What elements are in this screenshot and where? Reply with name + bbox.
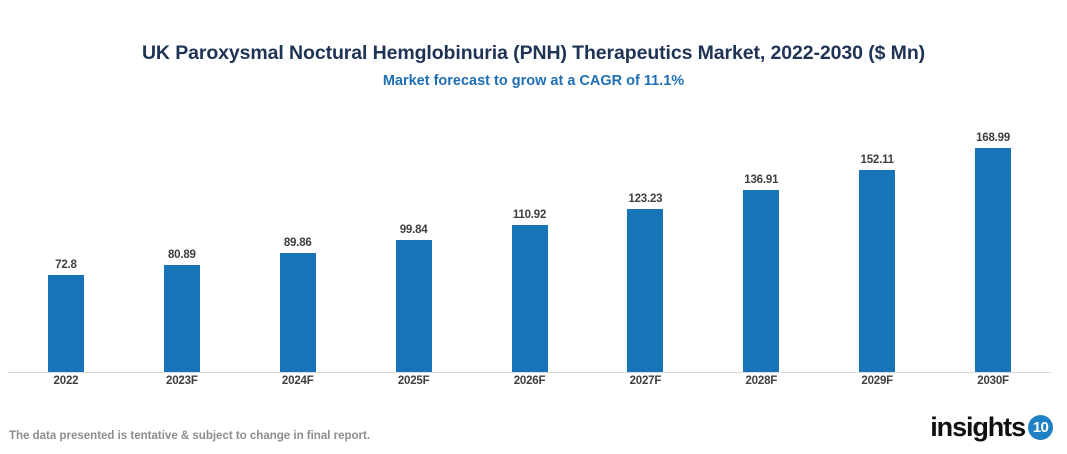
- bar-group: 136.91: [703, 120, 819, 372]
- bar-group: 80.89: [124, 120, 240, 372]
- x-tick-label: 2022: [8, 375, 124, 393]
- logo-badge-icon: 10: [1028, 415, 1053, 440]
- bar-group: 99.84: [356, 120, 472, 372]
- disclaimer-text: The data presented is tentative & subjec…: [9, 430, 370, 442]
- x-tick-label: 2030F: [935, 375, 1051, 393]
- x-axis-tick-labels: 20222023F2024F2025F2026F2027F2028F2029F2…: [8, 375, 1051, 393]
- title-block: UK Paroxysmal Noctural Hemglobinuria (PN…: [0, 40, 1067, 91]
- bar-group: 123.23: [587, 120, 703, 372]
- page-title: UK Paroxysmal Noctural Hemglobinuria (PN…: [0, 40, 1067, 66]
- bar-value-label: 136.91: [744, 174, 778, 186]
- bar-value-label: 168.99: [976, 132, 1010, 144]
- logo-wordmark: insights: [930, 414, 1025, 441]
- bar[interactable]: [975, 148, 1011, 372]
- chart-subtitle: Market forecast to grow at a CAGR of 11.…: [0, 71, 1067, 91]
- bar[interactable]: [512, 225, 548, 372]
- bar-value-label: 152.11: [861, 154, 894, 166]
- x-tick-label: 2026F: [472, 375, 588, 393]
- insights10-logo: insights 10: [930, 412, 1053, 442]
- bar[interactable]: [164, 265, 200, 372]
- bar-group: 152.11: [819, 120, 935, 372]
- bar[interactable]: [48, 275, 84, 372]
- x-axis-baseline: [8, 372, 1051, 373]
- bar-series: 72.880.8989.8699.84110.92123.23136.91152…: [8, 120, 1051, 372]
- bar[interactable]: [396, 240, 432, 372]
- x-tick-label: 2023F: [124, 375, 240, 393]
- bar-value-label: 80.89: [168, 249, 196, 261]
- x-tick-label: 2025F: [356, 375, 472, 393]
- chart-figure: UK Paroxysmal Noctural Hemglobinuria (PN…: [0, 0, 1067, 454]
- bar-group: 89.86: [240, 120, 356, 372]
- bar-group: 110.92: [472, 120, 588, 372]
- bar[interactable]: [859, 170, 895, 372]
- x-tick-label: 2028F: [703, 375, 819, 393]
- bar-value-label: 110.92: [513, 209, 546, 221]
- bar-value-label: 99.84: [400, 224, 428, 236]
- x-tick-label: 2027F: [587, 375, 703, 393]
- bar-group: 72.8: [8, 120, 124, 372]
- bar-value-label: 89.86: [284, 237, 312, 249]
- plot-area: 72.880.8989.8699.84110.92123.23136.91152…: [8, 120, 1051, 373]
- bar-group: 168.99: [935, 120, 1051, 372]
- bar[interactable]: [743, 190, 779, 372]
- bar[interactable]: [627, 209, 663, 372]
- x-tick-label: 2024F: [240, 375, 356, 393]
- x-tick-label: 2029F: [819, 375, 935, 393]
- bar[interactable]: [280, 253, 316, 372]
- bar-value-label: 72.8: [55, 259, 77, 271]
- bar-value-label: 123.23: [628, 193, 662, 205]
